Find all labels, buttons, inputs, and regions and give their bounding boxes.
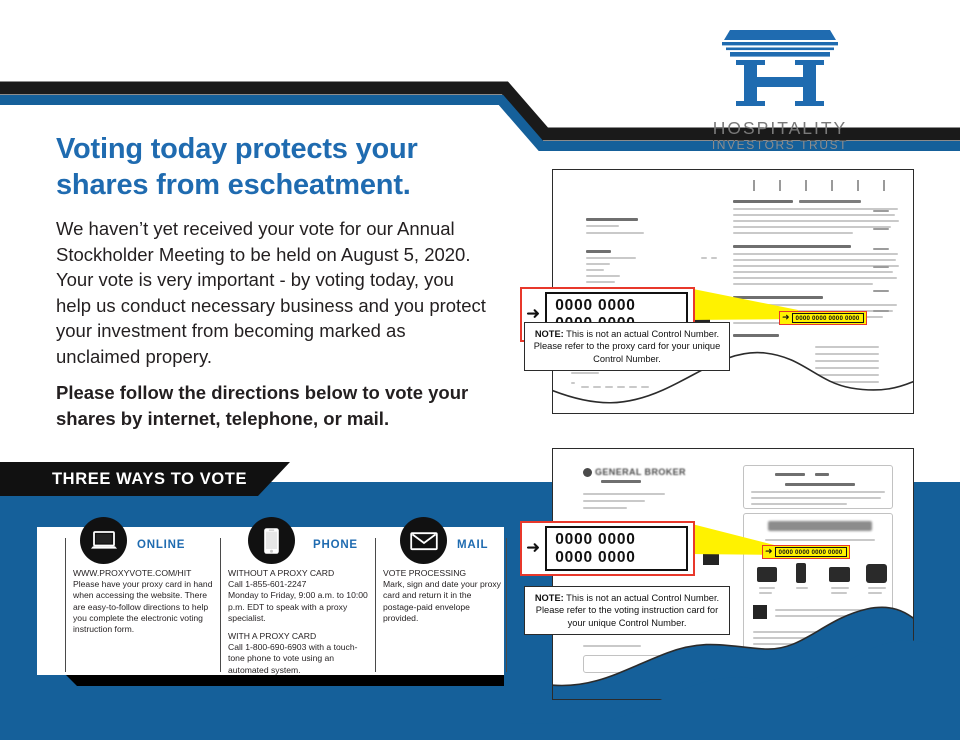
flyer-page: HOSPITALITY INVESTORS TRUST Voting today… xyxy=(0,0,960,740)
three-ways-banner-label: THREE WAYS TO VOTE xyxy=(52,470,247,489)
logo-wordmark-line2: INVESTORS TRUST xyxy=(700,138,860,153)
vote-option-mail-label: MAIL xyxy=(457,539,488,551)
mini-arrow-icon: ➜ xyxy=(765,548,773,557)
mini-arrow-icon: ➜ xyxy=(782,314,790,323)
vote-option-phone-text-2: WITH A PROXY CARD Call 1-800-690-6903 wi… xyxy=(228,631,370,676)
callout-arrow-icon: ➜ xyxy=(526,306,540,323)
envelope-glyph xyxy=(410,531,438,551)
note-label: NOTE: xyxy=(535,329,564,339)
body-bold-instruction: Please follow the directions below to vo… xyxy=(56,380,496,431)
note-label: NOTE: xyxy=(535,593,564,603)
mini-control-number-value: 0000 0000 0000 0000 xyxy=(792,313,864,323)
mini-control-number-value: 0000 0000 0000 0000 xyxy=(775,547,847,557)
logo-wordmark-line1: HOSPITALITY xyxy=(700,119,860,138)
control-number-note-voting-instruction-card: NOTE: This is not an actual Control Numb… xyxy=(524,586,730,635)
vote-option-phone-text-1: WITHOUT A PROXY CARD Call 1-855-601-2247… xyxy=(228,568,370,624)
mobile-phone-glyph xyxy=(263,527,280,555)
page-headline: Voting today protects your shares from e… xyxy=(56,131,476,203)
vote-option-online-text: WWW.PROXYVOTE.COM/HIT Please have your p… xyxy=(73,568,215,635)
vote-option-mail-text: VOTE PROCESSING Mark, sign and date your… xyxy=(383,568,501,624)
control-number-value-voting-instruction-card: 0000 0000 0000 0000 xyxy=(545,526,688,571)
vote-option-online-label: ONLINE xyxy=(137,539,185,551)
callout-arrow-icon: ➜ xyxy=(526,540,540,557)
control-number-callout-voting-instruction-card: ➜ 0000 0000 0000 0000 xyxy=(520,521,695,576)
note-text: This is not an actual Control Number. Pl… xyxy=(536,593,719,628)
laptop-icon xyxy=(80,517,127,564)
envelope-icon xyxy=(400,517,447,564)
vote-option-phone-label: PHONE xyxy=(313,539,358,551)
company-logo: HOSPITALITY INVESTORS TRUST xyxy=(700,14,860,154)
body-paragraph: We haven’t yet received your vote for ou… xyxy=(56,216,486,369)
mini-control-number-voting-instruction-card: ➜ 0000 0000 0000 0000 xyxy=(762,545,850,559)
laptop-glyph xyxy=(90,530,118,552)
vote-option-mail: VOTE PROCESSING Mark, sign and date your… xyxy=(375,538,507,672)
broker-header-text: GENERAL BROKER xyxy=(595,467,686,477)
mini-control-number-proxy-card: ➜ 0000 0000 0000 0000 xyxy=(779,311,867,325)
control-number-note-proxy-card: NOTE: This is not an actual Control Numb… xyxy=(524,322,730,371)
make-your-vote-count-heading xyxy=(768,521,872,531)
vote-option-phone: WITHOUT A PROXY CARD Call 1-855-601-2247… xyxy=(220,538,375,672)
mobile-phone-icon xyxy=(248,517,295,564)
vote-option-phone-text: WITHOUT A PROXY CARD Call 1-855-601-2247… xyxy=(228,568,370,676)
temple-h-logo-icon xyxy=(700,14,860,114)
